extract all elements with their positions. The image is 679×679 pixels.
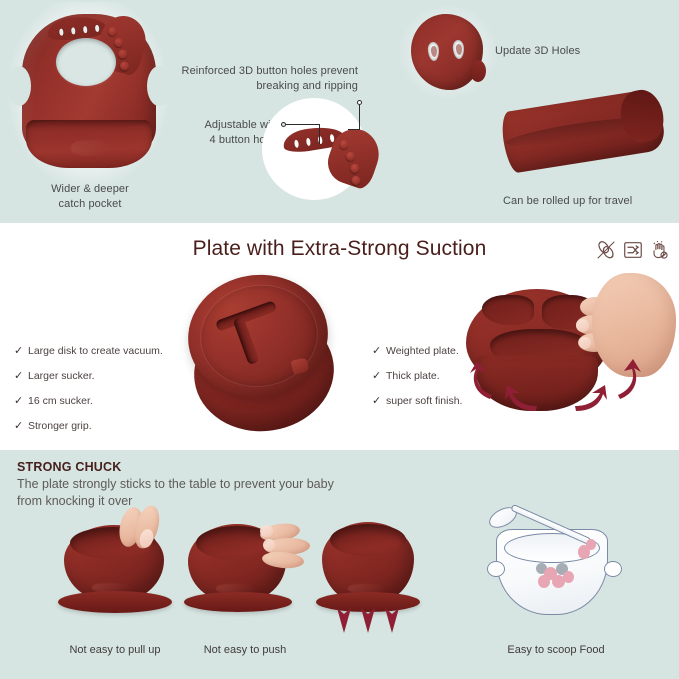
feature-row: ✓16 cm sucker. <box>14 389 163 414</box>
feature-label: Thick plate. <box>386 370 440 382</box>
rolled-bib-caption: Can be rolled up for travel <box>503 194 632 209</box>
feature-label: Weighted plate. <box>386 345 459 357</box>
check-icon: ✓ <box>14 339 28 364</box>
bowl-handle-left <box>487 561 505 577</box>
bib-catch-pocket <box>26 120 152 168</box>
bib-button-hole <box>71 27 75 34</box>
closeup-button <box>345 151 356 162</box>
bib-feature-section: Wider & deeper catch pocket Reinforced 3… <box>0 0 679 223</box>
feature-row: ✓Weighted plate. <box>372 339 462 364</box>
infographic-page: Wider & deeper catch pocket Reinforced 3… <box>0 0 679 679</box>
reinforced-holes-note: Reinforced 3D button holes prevent break… <box>150 64 358 94</box>
leader-line-reinforced-h <box>348 129 360 130</box>
reinforced-3d-hole <box>427 42 439 62</box>
bib-waist-cut-left <box>7 66 31 106</box>
bib-caption-line-1: Wider & deeper <box>14 182 166 197</box>
update-3d-holes-label: Update 3D Holes <box>495 44 580 59</box>
bib-product-image <box>22 14 156 178</box>
check-icon: ✓ <box>14 389 28 414</box>
fingernail <box>576 319 589 332</box>
plate-features-right: ✓Weighted plate. ✓Thick plate. ✓super so… <box>372 339 462 414</box>
feature-row: ✓Large disk to create vacuum. <box>14 339 163 364</box>
plate-feature-section: Plate with Extra-Strong Suction <box>0 223 679 450</box>
check-icon: ✓ <box>372 339 386 364</box>
bib-logo-emboss <box>71 140 113 156</box>
bowl-push-label: Not easy to push <box>170 644 320 656</box>
bowl-push-image <box>184 500 314 628</box>
leader-line-adjustable-h <box>286 124 320 125</box>
suction-grip-arrow <box>360 606 376 639</box>
leader-line-adjustable-v <box>319 124 320 144</box>
no-phthalates-icon <box>622 238 644 262</box>
bib-caption-line-2: catch pocket <box>14 197 166 212</box>
check-icon: ✓ <box>14 364 28 389</box>
strong-chuck-heading: STRONG CHUCK <box>17 460 121 474</box>
strong-chuck-section: STRONG CHUCK The plate strongly sticks t… <box>0 450 679 679</box>
bowl-pull-up-label: Not easy to pull up <box>40 644 190 656</box>
strong-chuck-paragraph-line-1: The plate strongly sticks to the table t… <box>17 476 447 493</box>
check-icon: ✓ <box>372 364 386 389</box>
feature-label: Larger sucker. <box>28 370 95 382</box>
suction-force-arrow <box>468 361 498 406</box>
suction-disk-ring <box>193 277 324 394</box>
plate-compartment-small-left <box>482 295 534 325</box>
feature-row: ✓Stronger grip. <box>14 414 163 439</box>
bib-button <box>113 37 124 48</box>
feature-row: ✓Larger sucker. <box>14 364 163 389</box>
bib-button <box>107 26 118 37</box>
bowl-cavity <box>330 524 406 556</box>
no-bpa-icon <box>595 238 617 262</box>
fingernail <box>263 539 275 551</box>
rolled-bib-image <box>503 82 663 178</box>
reinforced-3d-hole <box>452 40 464 60</box>
suction-force-arrow <box>504 381 538 420</box>
closeup-button-hole <box>294 140 299 149</box>
bowl-suction-feet-image <box>312 500 442 635</box>
fingernail <box>260 525 273 537</box>
closeup-button <box>338 139 349 150</box>
certification-badges <box>595 238 671 262</box>
closeup-button <box>349 163 360 174</box>
check-icon: ✓ <box>14 414 28 439</box>
feature-label: Large disk to create vacuum. <box>28 345 163 357</box>
scoop-food-label: Easy to scoop Food <box>481 644 631 656</box>
bib-button <box>119 60 130 71</box>
bib-button-hole <box>59 29 63 36</box>
feature-label: super soft finish. <box>386 395 462 407</box>
feature-row: ✓super soft finish. <box>372 389 462 414</box>
suction-force-arrow <box>614 359 644 406</box>
plate-features-left: ✓Large disk to create vacuum. ✓Larger su… <box>14 339 163 439</box>
feature-label: Stronger grip. <box>28 420 92 432</box>
closeup-button <box>350 175 361 186</box>
suction-force-arrow <box>574 381 608 420</box>
food-piece <box>586 539 596 550</box>
hand-pressing-plate-image <box>462 271 677 446</box>
bowl-suction-foot <box>184 592 292 612</box>
hole-closeup-image <box>411 14 483 90</box>
bowl-handle-right <box>604 561 622 577</box>
bib-pocket-lip <box>34 120 144 128</box>
bib-caption: Wider & deeper catch pocket <box>14 182 166 212</box>
suction-grip-arrow <box>384 606 400 639</box>
scoop-food-illustration <box>486 505 626 627</box>
reinforced-note-line-2: breaking and ripping <box>150 79 358 94</box>
bowl-suction-foot <box>58 591 172 613</box>
food-piece <box>538 575 550 588</box>
fingernail <box>579 337 591 349</box>
leader-line-reinforced-v <box>359 105 360 130</box>
check-icon: ✓ <box>372 389 386 414</box>
suction-plate-image <box>188 275 338 435</box>
closeup-button-hole <box>306 138 311 147</box>
bowl-pull-up-image <box>58 505 178 627</box>
feature-label: 16 cm sucker. <box>28 395 93 407</box>
bib-button-hole <box>83 26 87 33</box>
bib-button-hole <box>95 25 99 32</box>
bib-button <box>117 49 128 60</box>
food-piece <box>563 571 574 583</box>
bib-neck-opening <box>56 38 116 86</box>
non-toxic-hand-icon <box>649 238 671 262</box>
reinforced-note-line-1: Reinforced 3D button holes prevent <box>150 64 358 79</box>
plate-section-title: Plate with Extra-Strong Suction <box>0 237 679 261</box>
suction-grip-arrow <box>336 606 352 639</box>
feature-row: ✓Thick plate. <box>372 364 462 389</box>
